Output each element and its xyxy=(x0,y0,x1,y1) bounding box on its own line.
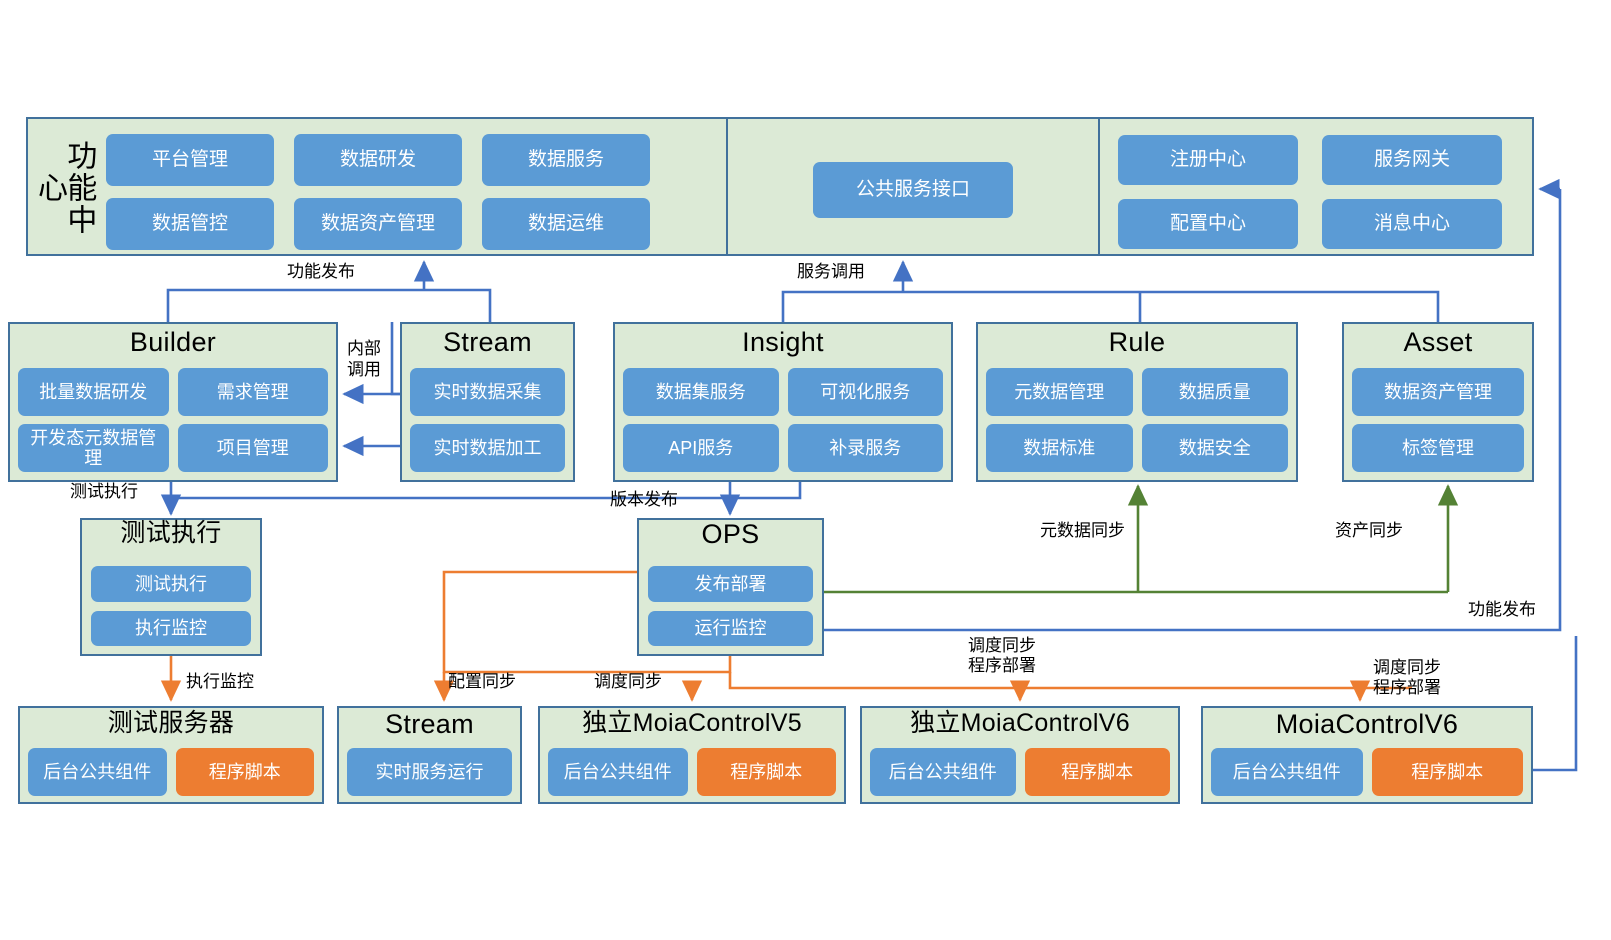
chip-visualization-service[interactable]: 可视化服务 xyxy=(788,368,944,416)
chip-backend-common-component[interactable]: 后台公共组件 xyxy=(548,748,688,796)
group-ops: OPS 发布部署 运行监控 xyxy=(637,518,824,656)
chip-data-dev[interactable]: 数据研发 xyxy=(294,134,462,186)
group-standalone-moiacontrolv6: 独立MoiaControlV6 后台公共组件 程序脚本 xyxy=(860,706,1180,804)
group-asset: Asset 数据资产管理 标签管理 xyxy=(1342,322,1534,482)
function-center-band: 功能中心 平台管理 数据研发 数据服务 数据管控 数据资产管理 数据运维 公共服… xyxy=(26,117,1534,256)
group-title-asset: Asset xyxy=(1344,328,1532,356)
edge-label-function-publish-right: 功能发布 xyxy=(1436,600,1536,620)
edge-label-schedule-sync: 调度同步 xyxy=(594,672,662,692)
chip-registry-center[interactable]: 注册中心 xyxy=(1118,135,1298,185)
chip-metadata-mgmt[interactable]: 元数据管理 xyxy=(986,368,1133,416)
group-title-ops: OPS xyxy=(639,520,822,548)
chip-test-execution[interactable]: 测试执行 xyxy=(91,566,251,602)
chip-public-service-interface[interactable]: 公共服务接口 xyxy=(813,162,1013,218)
group-rule: Rule 元数据管理 数据标准 数据质量 数据安全 xyxy=(976,322,1298,482)
group-title-insight: Insight xyxy=(615,328,951,356)
chip-data-ops[interactable]: 数据运维 xyxy=(482,198,650,250)
chip-realtime-process[interactable]: 实时数据加工 xyxy=(410,424,565,472)
group-title-standalone-moiacontrolv5: 独立MoiaControlV5 xyxy=(540,710,844,736)
edge-label-function-publish-top: 功能发布 xyxy=(287,262,355,282)
chip-data-standard[interactable]: 数据标准 xyxy=(986,424,1133,472)
chip-data-asset-mgmt[interactable]: 数据资产管理 xyxy=(294,198,462,250)
chip-realtime-collect[interactable]: 实时数据采集 xyxy=(410,368,565,416)
chip-program-script[interactable]: 程序脚本 xyxy=(176,748,315,796)
chip-backend-common-component[interactable]: 后台公共组件 xyxy=(870,748,1016,796)
chip-platform-mgmt[interactable]: 平台管理 xyxy=(106,134,274,186)
chip-project-mgmt[interactable]: 项目管理 xyxy=(178,424,329,472)
chip-program-script[interactable]: 程序脚本 xyxy=(697,748,837,796)
chip-data-quality[interactable]: 数据质量 xyxy=(1142,368,1289,416)
group-test-execution: 测试执行 测试执行 执行监控 xyxy=(80,518,262,656)
chip-program-script[interactable]: 程序脚本 xyxy=(1372,748,1524,796)
edge-label-service-call: 服务调用 xyxy=(797,262,865,282)
edge-label-config-sync: 配置同步 xyxy=(448,672,516,692)
infrastructure-segment: 注册中心 服务网关 配置中心 消息中心 xyxy=(1100,119,1534,254)
function-center-label: 功能中心 xyxy=(42,127,86,249)
edge-label-asset-sync: 资产同步 xyxy=(1335,521,1403,541)
group-title-standalone-moiacontrolv6: 独立MoiaControlV6 xyxy=(862,710,1178,736)
group-moiacontrolv6: MoiaControlV6 后台公共组件 程序脚本 xyxy=(1201,706,1533,804)
function-center-chip-grid: 平台管理 数据研发 数据服务 数据管控 数据资产管理 数据运维 xyxy=(106,134,650,250)
edge-label-version-publish: 版本发布 xyxy=(610,490,678,510)
group-stream-server: Stream 实时服务运行 xyxy=(337,706,522,804)
chip-realtime-service-runtime[interactable]: 实时服务运行 xyxy=(347,748,512,796)
chip-message-center[interactable]: 消息中心 xyxy=(1322,199,1502,249)
chip-release-deploy[interactable]: 发布部署 xyxy=(648,566,813,602)
chip-dataset-service[interactable]: 数据集服务 xyxy=(623,368,779,416)
chip-data-service[interactable]: 数据服务 xyxy=(482,134,650,186)
chip-backend-common-component[interactable]: 后台公共组件 xyxy=(1211,748,1363,796)
chip-tag-mgmt[interactable]: 标签管理 xyxy=(1352,424,1524,472)
chip-data-security[interactable]: 数据安全 xyxy=(1142,424,1289,472)
chip-config-center[interactable]: 配置中心 xyxy=(1118,199,1298,249)
chip-data-control[interactable]: 数据管控 xyxy=(106,198,274,250)
group-stream: Stream 实时数据采集 实时数据加工 xyxy=(400,322,575,482)
chip-api-service[interactable]: API服务 xyxy=(623,424,779,472)
group-title-test-execution: 测试执行 xyxy=(82,520,260,546)
edge-label-schedule-deploy-mid: 调度同步 程序部署 xyxy=(968,636,1036,676)
chip-batch-data-dev[interactable]: 批量数据研发 xyxy=(18,368,169,416)
group-test-server: 测试服务器 后台公共组件 程序脚本 xyxy=(18,706,324,804)
group-title-stream: Stream xyxy=(402,328,573,356)
group-standalone-moiacontrolv5: 独立MoiaControlV5 后台公共组件 程序脚本 xyxy=(538,706,846,804)
chip-execution-monitor[interactable]: 执行监控 xyxy=(91,611,251,647)
group-builder: Builder 批量数据研发 开发态元数据管理 需求管理 项目管理 xyxy=(8,322,338,482)
function-center-segment: 功能中心 平台管理 数据研发 数据服务 数据管控 数据资产管理 数据运维 xyxy=(28,119,728,254)
edge-label-schedule-deploy-right: 调度同步 程序部署 xyxy=(1373,658,1441,698)
public-service-segment: 公共服务接口 xyxy=(728,119,1100,254)
chip-program-script[interactable]: 程序脚本 xyxy=(1025,748,1171,796)
group-title-builder: Builder xyxy=(10,328,336,356)
infrastructure-chip-grid: 注册中心 服务网关 配置中心 消息中心 xyxy=(1118,135,1502,249)
chip-supplement-service[interactable]: 补录服务 xyxy=(788,424,944,472)
edge-label-internal-call: 内部 调用 xyxy=(343,338,385,381)
chip-requirement-mgmt[interactable]: 需求管理 xyxy=(178,368,329,416)
edge-label-exec-monitor: 执行监控 xyxy=(186,672,254,692)
group-title-stream-server: Stream xyxy=(339,710,520,738)
group-title-test-server: 测试服务器 xyxy=(20,710,322,736)
edge-label-metadata-sync: 元数据同步 xyxy=(1040,521,1125,541)
chip-backend-common-component[interactable]: 后台公共组件 xyxy=(28,748,167,796)
chip-service-gateway[interactable]: 服务网关 xyxy=(1322,135,1502,185)
group-title-rule: Rule xyxy=(978,328,1296,356)
chip-runtime-monitor[interactable]: 运行监控 xyxy=(648,611,813,647)
edge-label-test-exec: 测试执行 xyxy=(70,482,138,502)
group-title-moiacontrolv6: MoiaControlV6 xyxy=(1203,710,1531,738)
chip-dev-metadata-mgmt[interactable]: 开发态元数据管理 xyxy=(18,424,169,472)
architecture-diagram: 功能中心 平台管理 数据研发 数据服务 数据管控 数据资产管理 数据运维 公共服… xyxy=(0,0,1611,940)
chip-data-asset-management[interactable]: 数据资产管理 xyxy=(1352,368,1524,416)
group-insight: Insight 数据集服务 API服务 可视化服务 补录服务 xyxy=(613,322,953,482)
